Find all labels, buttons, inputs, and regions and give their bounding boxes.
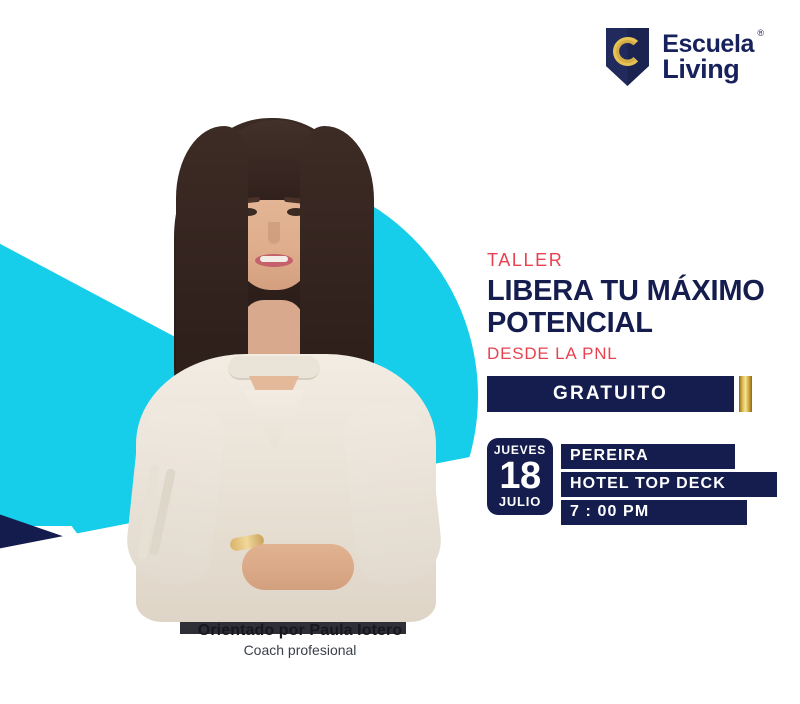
portrait-hands	[242, 544, 354, 590]
price-badge: GRATUITO	[487, 376, 752, 412]
speaker-role: Coach profesional	[150, 642, 450, 658]
portrait-teeth	[260, 256, 288, 262]
speaker-credit: Orientado por Paula Iotero	[150, 622, 450, 640]
speaker-portrait	[118, 104, 458, 616]
promo-headline: LIBERA TU MÁXIMO POTENCIAL	[487, 275, 777, 339]
gold-accent-bar	[739, 376, 752, 412]
promotional-flyer: Escuela Living ® TALLER LIBERA TU MÁXIMO…	[0, 0, 800, 704]
brand-logo[interactable]: Escuela Living ®	[604, 26, 754, 88]
promo-subkicker: DESDE LA PNL	[487, 344, 777, 364]
event-details: JUEVES 18 JULIO PEREIRA HOTEL TOP DECK 7…	[487, 438, 777, 525]
promo-kicker: TALLER	[487, 250, 777, 271]
event-time: 7 : 00 PM	[561, 500, 747, 525]
promo-content: TALLER LIBERA TU MÁXIMO POTENCIAL DESDE …	[487, 250, 777, 525]
event-date-box: JUEVES 18 JULIO	[487, 438, 553, 515]
event-city: PEREIRA	[561, 444, 735, 469]
brand-name-line1: Escuela	[662, 32, 754, 56]
promo-headline-line1: LIBERA TU MÁXIMO	[487, 275, 765, 307]
promo-headline-line2: POTENCIAL	[487, 307, 653, 339]
speaker-caption: Orientado por Paula Iotero Coach profesi…	[150, 622, 450, 658]
brand-wordmark: Escuela Living ®	[662, 32, 754, 82]
event-venue-stack: PEREIRA HOTEL TOP DECK 7 : 00 PM	[561, 438, 777, 525]
event-venue: HOTEL TOP DECK	[561, 472, 777, 497]
event-month: JULIO	[487, 495, 553, 509]
registered-trademark-icon: ®	[757, 29, 764, 38]
price-badge-bar: GRATUITO	[487, 376, 734, 412]
event-day-number: 18	[487, 458, 553, 495]
portrait-nose	[268, 222, 280, 244]
brand-name-line2: Living	[662, 56, 754, 82]
price-badge-label: GRATUITO	[553, 383, 668, 405]
shield-c-icon	[604, 26, 651, 88]
